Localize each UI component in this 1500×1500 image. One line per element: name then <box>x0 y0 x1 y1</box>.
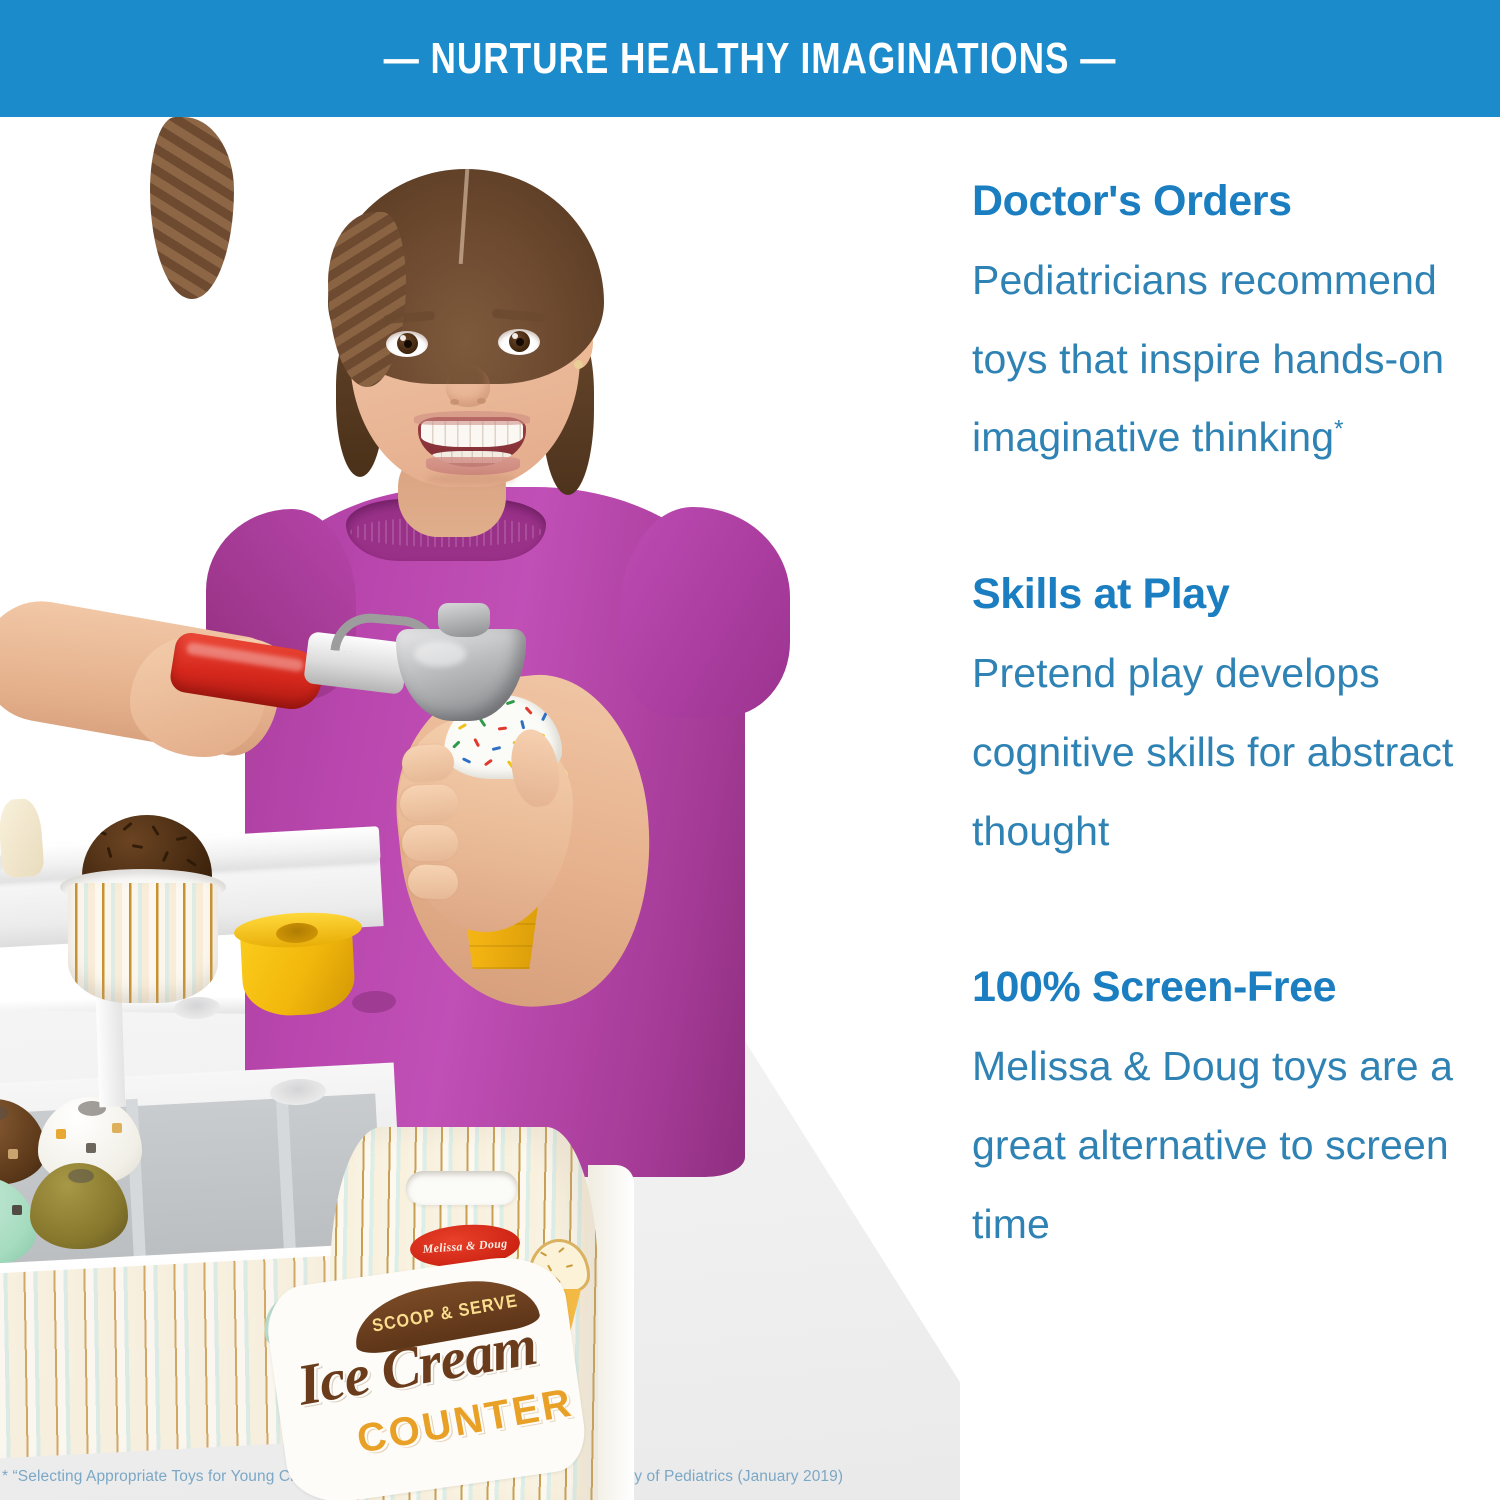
benefit-body: Pediatricians recommend toys that inspir… <box>972 241 1472 477</box>
benefit-block-screen-free: 100% Screen-Free Melissa & Doug toys are… <box>972 966 1472 1263</box>
eye-glint-left <box>400 335 406 341</box>
benefit-body: Pretend play develops cognitive skills f… <box>972 634 1472 870</box>
nostril-left <box>450 399 459 405</box>
finger <box>402 825 458 861</box>
earring-right <box>574 360 583 369</box>
benefit-body: Melissa & Doug toys are a great alternat… <box>972 1027 1472 1263</box>
product-photo: Melissa & Doug SCOOP & SERVE Ice Cream C… <box>0 117 960 1500</box>
shirt-sleeve-right <box>620 507 790 717</box>
product-carrier-box: Melissa & Doug SCOOP & SERVE Ice Cream C… <box>330 1127 630 1500</box>
lower-lip <box>426 457 520 475</box>
scoop-chip <box>56 1129 66 1139</box>
scoop-chip <box>112 1123 122 1133</box>
benefit-block-skills-at-play: Skills at Play Pretend play develops cog… <box>972 573 1472 870</box>
scoop-ball-hole <box>68 1169 94 1183</box>
footnote-marker: * <box>1334 416 1343 443</box>
carrier-handle <box>406 1171 518 1205</box>
toy-cone-cream <box>0 798 45 879</box>
toy-striped-cup <box>68 883 218 1003</box>
benefits-column: Doctor's Orders Pediatricians recommend … <box>972 180 1472 1263</box>
product-infographic: — NURTURE HEALTHY IMAGINATIONS — <box>0 0 1500 1500</box>
playset-cone-slot-showing-shirt <box>351 990 396 1014</box>
finger <box>407 864 459 901</box>
banner-title: — NURTURE HEALTHY IMAGINATIONS — <box>384 34 1117 84</box>
braid-right <box>150 117 234 299</box>
pupil-left <box>404 340 412 348</box>
benefit-heading: Doctor's Orders <box>972 180 1472 223</box>
ice-cream-scoop-knob <box>438 603 490 637</box>
eye-glint-right <box>512 333 518 339</box>
header-banner: — NURTURE HEALTHY IMAGINATIONS — <box>0 0 1500 117</box>
scoop-chip <box>86 1143 96 1153</box>
brand-badge-text: Melissa & Doug <box>422 1236 508 1257</box>
pupil-right <box>516 338 524 346</box>
upper-lip <box>414 411 530 425</box>
scoop-chip <box>8 1149 18 1159</box>
nostril-right <box>477 398 486 404</box>
benefit-heading: 100% Screen-Free <box>972 966 1472 1009</box>
benefit-body-text: Pediatricians recommend toys that inspir… <box>972 257 1444 460</box>
scoop-chip <box>12 1205 22 1215</box>
benefit-block-doctors-orders: Doctor's Orders Pediatricians recommend … <box>972 180 1472 477</box>
finger <box>399 784 458 822</box>
benefit-heading: Skills at Play <box>972 573 1472 616</box>
scoop-bowl-highlight <box>414 641 466 667</box>
